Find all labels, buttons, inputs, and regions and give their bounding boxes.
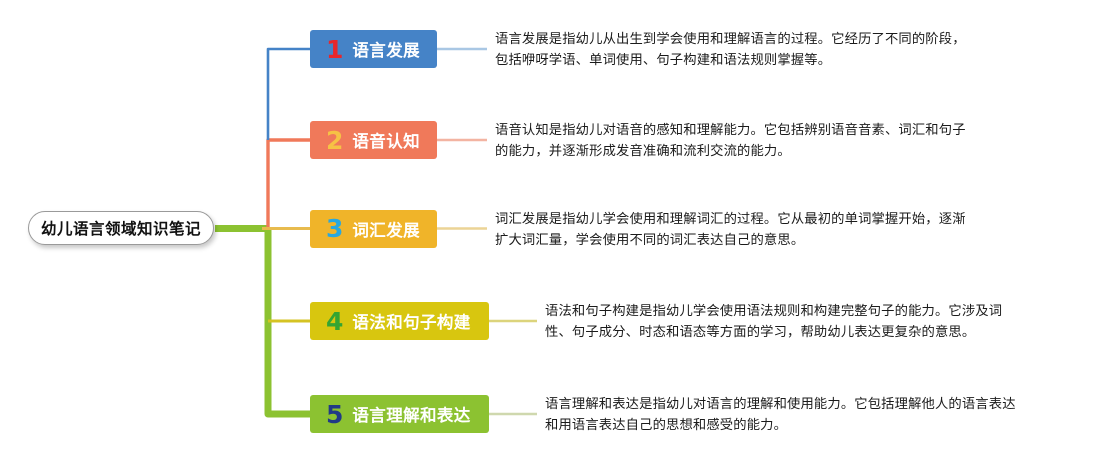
node-description-2: 语音认知是指幼儿对语音的感知和理解能力。它包括辨别语音音素、词汇和句子 的能力，… [495, 119, 1075, 161]
node-box-1[interactable]: 1 语言发展 [310, 30, 437, 68]
node-title-5: 语言理解和表达 [352, 402, 470, 426]
node-title-4: 语法和句子构建 [352, 309, 470, 333]
node-title-2: 语音认知 [352, 128, 420, 152]
node-box-3[interactable]: 3 词汇发展 [310, 210, 437, 248]
node-number-2: 2 [326, 128, 343, 153]
node-description-1: 语言发展是指幼儿从出生到学会使用和理解语言的过程。它经历了不同的阶段， 包括咿呀… [495, 28, 1075, 70]
trunk-segment-blue [268, 49, 310, 140]
root-node[interactable]: 幼儿语言领域知识笔记 [28, 211, 214, 245]
trunk-main-green [268, 229, 310, 415]
node-box-4[interactable]: 4 语法和句子构建 [310, 302, 489, 340]
node-number-4: 4 [326, 309, 343, 334]
mindmap-canvas: 幼儿语言领域知识笔记 1 语言发展 语言发展是指幼儿从出生到学会使用和理解语言的… [0, 0, 1109, 460]
node-box-5[interactable]: 5 语言理解和表达 [310, 395, 489, 433]
node-description-3: 词汇发展是指幼儿学会使用和理解词汇的过程。它从最初的单词掌握开始，逐渐 扩大词汇… [495, 208, 1075, 250]
node-number-5: 5 [326, 402, 343, 427]
node-title-3: 词汇发展 [352, 217, 420, 241]
node-description-5: 语言理解和表达是指幼儿对语言的理解和使用能力。它包括理解他人的语言表达 和用语言… [545, 393, 1085, 435]
root-node-label: 幼儿语言领域知识笔记 [41, 217, 201, 239]
node-description-4: 语法和句子构建是指幼儿学会使用语法规则和构建完整句子的能力。它涉及词 性、句子成… [545, 300, 1085, 342]
node-box-2[interactable]: 2 语音认知 [310, 121, 437, 159]
node-number-1: 1 [326, 37, 343, 62]
node-number-3: 3 [326, 216, 343, 241]
trunk-segment-salmon [268, 140, 310, 229]
node-title-1: 语言发展 [352, 37, 420, 61]
